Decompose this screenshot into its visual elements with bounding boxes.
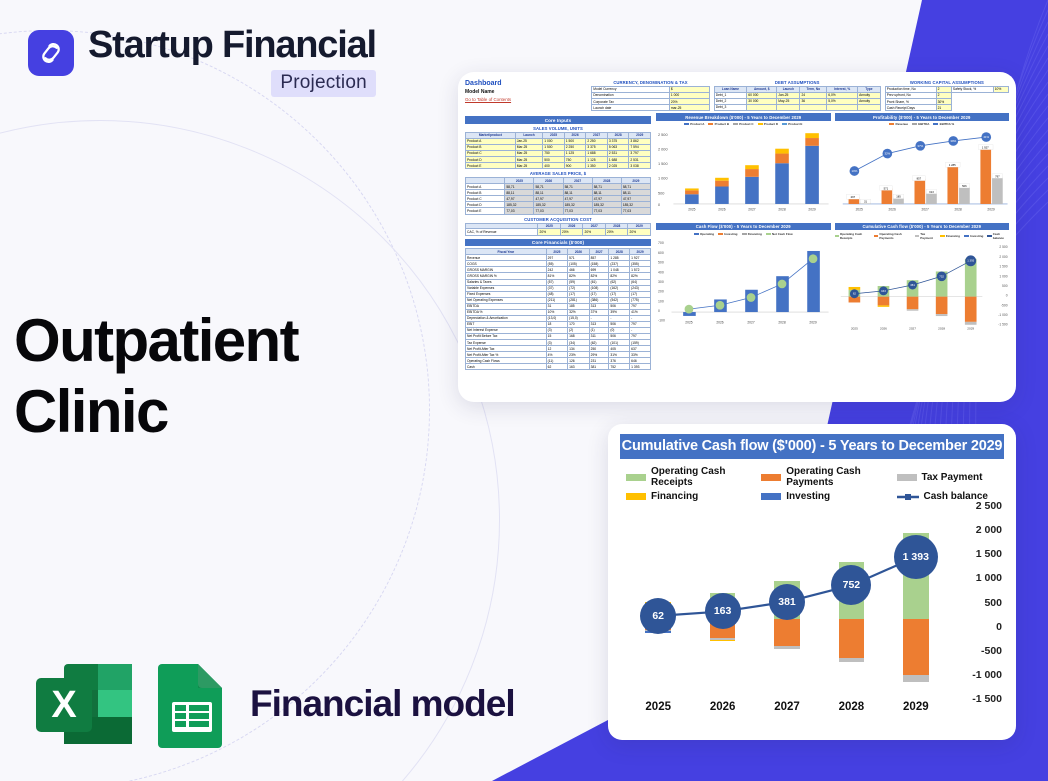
legend-swatch xyxy=(694,233,699,235)
legend-swatch xyxy=(964,235,969,237)
x-tick-label: 2028 xyxy=(819,701,883,713)
svg-text:571: 571 xyxy=(883,186,888,190)
y-tick-label: -1 000 xyxy=(950,669,1002,681)
svg-text:-500: -500 xyxy=(1000,304,1007,308)
legend-item: Tax Payment xyxy=(897,466,1003,488)
table-of-contents-link[interactable]: Go to Table of Contents xyxy=(465,97,591,102)
svg-text:297: 297 xyxy=(850,195,855,199)
svg-text:2025: 2025 xyxy=(685,321,692,325)
svg-text:1 393: 1 393 xyxy=(967,259,974,263)
svg-text:39%: 39% xyxy=(950,139,956,143)
core-financials-table: Fiscal Year20252026202720282029Revenue29… xyxy=(465,248,651,370)
svg-text:400: 400 xyxy=(658,271,664,275)
debt-block-title: DEBT ASSUMPTIONS xyxy=(714,80,881,85)
data-point-label: 163 xyxy=(705,593,741,629)
legend-item: Financing xyxy=(940,232,960,240)
chart-legend: OperatingInvestingFinancingNet Cash Flow xyxy=(656,230,831,237)
legend-item: Investing xyxy=(761,491,896,502)
svg-text:X: X xyxy=(51,684,77,726)
legend-item: EBITDA % xyxy=(933,122,954,126)
legend-swatch xyxy=(874,235,878,237)
cac-table: 20252026202720282029CAC, % of Revenue20%… xyxy=(465,223,651,236)
svg-text:2026: 2026 xyxy=(718,208,725,212)
table-cell: CAC, % of Revenue xyxy=(466,229,538,235)
chart-plot: 621633817521 393 2 5002 0001 5001 000500… xyxy=(620,508,1004,713)
legend-swatch xyxy=(915,235,919,237)
legend-label: Operating Cash Payments xyxy=(879,232,911,240)
sales-volume-table: Market/productLaunch20252026202720282029… xyxy=(465,132,651,169)
svg-text:797: 797 xyxy=(995,174,1000,178)
table-cell: 20% xyxy=(605,229,628,235)
chart-cumulative-cash-flow-mini[interactable]: Cumulative Cash flow ($'000) - 5 Years t… xyxy=(835,223,1010,337)
svg-text:2028: 2028 xyxy=(778,321,785,325)
table-cell: Product E xyxy=(466,208,505,214)
legend-item: Product C xyxy=(733,122,754,126)
debt-assumptions-block: DEBT ASSUMPTIONS Loan NameAmount, $Launc… xyxy=(714,80,881,111)
svg-text:2029: 2029 xyxy=(967,327,974,331)
legend-swatch xyxy=(718,233,723,235)
table-row: Product EMar-254009001 3502 0253 038 xyxy=(466,163,651,169)
x-tick-label: 2025 xyxy=(626,701,690,713)
table-cell: Safety Stock, % xyxy=(951,87,993,93)
table-cell: mar-25 xyxy=(669,105,709,111)
legend-swatch xyxy=(761,474,781,481)
svg-text:2025: 2025 xyxy=(688,208,695,212)
cumulative-cash-flow-mini-plot: 2 5002 0001 500 1 0005000 -500-1 000-1 5… xyxy=(835,241,1010,331)
avg-price-table: 20252026202720282029Product A58,7158,715… xyxy=(465,177,651,214)
svg-text:163: 163 xyxy=(881,289,886,293)
google-sheets-icon xyxy=(156,660,228,748)
svg-text:2026: 2026 xyxy=(880,327,887,331)
svg-text:-1 500: -1 500 xyxy=(998,323,1007,327)
svg-text:41%: 41% xyxy=(983,135,989,139)
legend-label: Revenue xyxy=(896,122,909,126)
y-tick-label: 2 000 xyxy=(950,524,1002,536)
legend-item: Cash balance xyxy=(987,232,1009,240)
core-inputs-band: Core Inputs xyxy=(465,116,651,124)
y-tick-label: -1 500 xyxy=(950,693,1002,705)
table-cell: 1 393 xyxy=(630,364,651,370)
svg-text:31: 31 xyxy=(864,199,868,203)
chart-title: Profitability ($'000) - 5 Years to Decem… xyxy=(835,113,1010,121)
legend-item: Operating xyxy=(694,232,714,236)
svg-text:0: 0 xyxy=(658,202,660,207)
table-cell: 77,03 xyxy=(592,208,621,214)
y-tick-label: -500 xyxy=(950,645,1002,657)
table-cell: Cash Receipt Days xyxy=(885,105,936,111)
svg-text:2028: 2028 xyxy=(778,208,785,212)
table-cell: 752 xyxy=(609,364,630,370)
svg-text:2026: 2026 xyxy=(716,321,723,325)
legend-item: Product D xyxy=(758,122,779,126)
legend-item: Net Cash Flow xyxy=(766,232,793,236)
logo-title: Startup Financial xyxy=(88,26,376,66)
e-loop-icon xyxy=(28,30,74,76)
svg-text:2 500: 2 500 xyxy=(658,132,668,137)
table-cell: Product E xyxy=(466,163,516,169)
legend-item: Revenue xyxy=(889,122,908,126)
table-cell: Cash xyxy=(466,364,547,370)
dashboard-title: Dashboard xyxy=(465,80,591,87)
table-cell: 20% xyxy=(560,229,583,235)
x-tick-label: 2027 xyxy=(755,701,819,713)
table-cell: 21 xyxy=(936,105,951,111)
chart-legend: RevenueEBITDAEBITDA % xyxy=(835,121,1010,128)
legend-swatch xyxy=(897,474,917,481)
svg-text:2025: 2025 xyxy=(855,208,862,212)
legend-label: Financing xyxy=(748,232,762,236)
svg-text:10%: 10% xyxy=(851,169,857,173)
table-row: Cash Receipt Days21 xyxy=(885,105,1008,111)
svg-text:2029: 2029 xyxy=(808,208,815,212)
legend-swatch xyxy=(782,123,787,125)
svg-text:2 000: 2 000 xyxy=(999,255,1007,259)
legend-swatch xyxy=(684,123,689,125)
currency-block-title: CURRENCY, DENOMINATION & TAX xyxy=(591,80,709,85)
logo-subtitle: Projection xyxy=(271,70,376,97)
svg-text:37%: 37% xyxy=(917,144,923,148)
svg-text:2027: 2027 xyxy=(747,321,754,325)
currency-assumptions-block: CURRENCY, DENOMINATION & TAX Model Curre… xyxy=(591,80,709,111)
legend-label: Product D xyxy=(764,122,778,126)
table-cell: 77,03 xyxy=(563,208,592,214)
legend-item: Tax Payment xyxy=(915,232,936,240)
svg-text:2029: 2029 xyxy=(987,208,994,212)
table-cell: Launch date xyxy=(592,105,670,111)
chart-legend: Operating Cash ReceiptsOperating Cash Pa… xyxy=(626,466,1002,502)
table-cell: 2 025 xyxy=(607,163,629,169)
table-cell: 900 xyxy=(564,163,586,169)
table-cell: 10% xyxy=(993,87,1008,93)
y-tick-label: 2 500 xyxy=(950,500,1002,512)
cash-flow-plot: 700600500 400300200 1000-100 xyxy=(656,237,831,327)
legend-label: Investing xyxy=(970,234,983,238)
legend-item: Financing xyxy=(742,232,762,236)
svg-text:2027: 2027 xyxy=(921,208,928,212)
currency-table: Model Currency$Denomination1 000Corporat… xyxy=(591,86,709,111)
x-axis: 20252026202720282029 xyxy=(626,689,948,713)
svg-text:1 927: 1 927 xyxy=(981,146,988,150)
legend-label: Financing xyxy=(651,491,698,502)
table-cell: 77,03 xyxy=(621,208,650,214)
legend-label: EBITDA % xyxy=(940,122,955,126)
chart-revenue-breakdown[interactable]: Revenue Breakdown ($'000) - 5 Years to D… xyxy=(656,113,831,219)
table-cell: Mar-25 xyxy=(515,163,542,169)
table-cell: 20% xyxy=(538,229,561,235)
brand-logo: Startup Financial Projection xyxy=(28,26,376,97)
legend-swatch xyxy=(835,235,839,237)
table-cell: 1 350 xyxy=(586,163,608,169)
legend-item: Operating Cash Payments xyxy=(874,232,911,240)
chart-legend: Operating Cash ReceiptsOperating Cash Pa… xyxy=(835,230,1010,241)
legend-label: Operating Cash Payments xyxy=(786,466,896,488)
table-cell: 20% xyxy=(628,229,651,235)
cac-title: CUSTOMER ACQUISITION COST xyxy=(465,217,651,222)
page-title: Outpatient Clinic xyxy=(14,306,434,448)
legend-label: Financing xyxy=(946,234,960,238)
legend-item: Operating Cash Receipts xyxy=(626,466,761,488)
table-cell: 77,03 xyxy=(534,208,563,214)
svg-text:600: 600 xyxy=(658,251,664,255)
table-row: Cash621633817521 393 xyxy=(466,364,651,370)
legend-label: Product A xyxy=(690,122,704,126)
chart-legend: Product AProduct BProduct CProduct DProd… xyxy=(656,121,831,128)
chart-title: Revenue Breakdown ($'000) - 5 Years to D… xyxy=(656,113,831,121)
legend-swatch xyxy=(761,493,781,500)
svg-text:-100: -100 xyxy=(658,319,665,323)
svg-text:1 500: 1 500 xyxy=(658,161,668,166)
table-cell: 3 038 xyxy=(629,163,651,169)
x-tick-label: 2029 xyxy=(884,701,948,713)
legend-label: Cash balance xyxy=(993,232,1009,240)
data-point-label: 1 393 xyxy=(894,535,938,579)
table-cell: 62 xyxy=(546,364,567,370)
footer-badges: X Financial model xyxy=(32,660,515,748)
legend-label: Tax Payment xyxy=(920,232,935,240)
table-row: Product E77,0377,0377,0377,0377,03 xyxy=(466,208,651,214)
y-tick-label: 500 xyxy=(950,597,1002,609)
table-cell xyxy=(858,105,881,111)
data-point-label: 381 xyxy=(769,584,805,620)
svg-text:381: 381 xyxy=(910,283,915,287)
svg-text:313: 313 xyxy=(929,190,934,194)
page-title-line2: Clinic xyxy=(14,377,434,448)
table-cell: Debt_3 xyxy=(714,105,747,111)
legend-swatch xyxy=(940,235,945,237)
y-axis: 2 5002 0001 5001 0005000-500-1 000-1 500 xyxy=(950,500,1002,693)
svg-text:0: 0 xyxy=(1005,294,1007,298)
svg-text:500: 500 xyxy=(658,261,664,265)
svg-text:700: 700 xyxy=(658,242,664,246)
y-tick-label: 0 xyxy=(950,621,1002,633)
chart-cash-flow[interactable]: Cash Flow ($'000) - 5 Years to December … xyxy=(656,223,831,337)
legend-item: Financing xyxy=(626,491,761,502)
legend-swatch xyxy=(889,123,894,125)
svg-text:200: 200 xyxy=(658,290,664,294)
legend-item: Investing xyxy=(718,232,737,236)
sales-volume-title: SALES VOLUME, UNITS xyxy=(465,126,651,131)
legend-item: Product A xyxy=(684,122,704,126)
cumulative-cash-flow-card[interactable]: Cumulative Cash flow ($'000) - 5 Years t… xyxy=(608,424,1016,740)
legend-item: Operating Cash Payments xyxy=(761,466,896,488)
legend-item: Product B xyxy=(708,122,729,126)
svg-text:752: 752 xyxy=(939,275,944,279)
svg-text:2 000: 2 000 xyxy=(658,146,668,151)
table-row: Debt_3 xyxy=(714,105,880,111)
legend-swatch xyxy=(708,123,713,125)
svg-text:2027: 2027 xyxy=(748,208,755,212)
avg-price-title: AVERAGE SALES PRICE, $ xyxy=(465,171,651,176)
table-cell: 77,03 xyxy=(505,208,534,214)
chart-title: Cash Flow ($'000) - 5 Years to December … xyxy=(656,223,831,231)
legend-swatch xyxy=(626,474,646,481)
working-capital-table: Production time, No2Safety Stock, %10%Pr… xyxy=(885,86,1009,111)
legend-label: Operating Cash Receipts xyxy=(651,466,761,488)
legend-label: Tax Payment xyxy=(922,472,983,483)
page-title-line1: Outpatient xyxy=(14,306,434,377)
revenue-breakdown-plot: 2 5002 0001 500 1 0005000 202520 xyxy=(656,128,831,214)
svg-text:62: 62 xyxy=(852,292,856,296)
legend-swatch xyxy=(758,123,763,125)
legend-label: Operating Cash Receipts xyxy=(840,232,870,240)
chart-title: Cumulative Cash flow ($'000) - 5 Years t… xyxy=(835,223,1010,231)
wc-block-title: WORKING CAPITAL ASSUMPTIONS xyxy=(885,80,1009,85)
legend-item: Product E xyxy=(782,122,802,126)
svg-text:185: 185 xyxy=(896,195,901,199)
legend-label: EBITDA xyxy=(918,122,929,126)
legend-label: Product E xyxy=(788,122,802,126)
table-cell xyxy=(827,105,858,111)
legend-item: EBITDA xyxy=(912,122,929,126)
y-tick-label: 1 000 xyxy=(950,572,1002,584)
table-row: CAC, % of Revenue20%20%20%20%20% xyxy=(466,229,651,235)
chart-title: Cumulative Cash flow ($'000) - 5 Years t… xyxy=(620,434,1004,459)
table-cell: 163 xyxy=(568,364,589,370)
dashboard-heading-block: Dashboard Model Name Go to Table of Cont… xyxy=(465,80,591,111)
svg-text:2027: 2027 xyxy=(909,327,916,331)
core-financials-band: Core Financials ($'000) xyxy=(465,239,651,247)
svg-text:857: 857 xyxy=(916,177,921,181)
legend-swatch xyxy=(733,123,738,125)
svg-text:100: 100 xyxy=(658,300,664,304)
legend-swatch xyxy=(987,235,991,237)
dashboard-preview-card[interactable]: Dashboard Model Name Go to Table of Cont… xyxy=(458,72,1016,402)
table-cell xyxy=(800,105,827,111)
core-inputs-column: Core Inputs SALES VOLUME, UNITS Market/p… xyxy=(465,113,651,370)
svg-text:506: 506 xyxy=(962,184,967,188)
legend-line-swatch xyxy=(897,493,919,500)
legend-swatch xyxy=(626,493,646,500)
table-row: Launch datemar-25 xyxy=(592,105,709,111)
legend-item: Operating Cash Receipts xyxy=(835,232,870,240)
microsoft-excel-icon: X xyxy=(32,660,136,748)
dashboard-model-name: Model Name xyxy=(465,89,591,95)
svg-text:32%: 32% xyxy=(884,152,890,156)
svg-text:2028: 2028 xyxy=(954,208,961,212)
legend-label: Operating xyxy=(700,232,714,236)
svg-text:300: 300 xyxy=(658,280,664,284)
svg-text:2 500: 2 500 xyxy=(999,246,1007,250)
table-cell: 20% xyxy=(583,229,606,235)
data-point-label: 62 xyxy=(640,598,676,634)
y-tick-label: 1 500 xyxy=(950,548,1002,560)
working-capital-block: WORKING CAPITAL ASSUMPTIONS Production t… xyxy=(885,80,1009,111)
legend-item: Investing xyxy=(964,232,983,240)
svg-text:2025: 2025 xyxy=(850,327,857,331)
table-cell xyxy=(777,105,800,111)
profitability-plot: 297 571 857 1 285 1 927 31 185 313 506 7… xyxy=(835,128,1010,214)
debt-table: Loan NameAmount, $LaunchTerm, NoInterest… xyxy=(714,86,881,111)
table-cell: 400 xyxy=(543,163,565,169)
svg-text:500: 500 xyxy=(658,190,664,195)
legend-label: Investing xyxy=(724,232,737,236)
legend-swatch xyxy=(933,123,938,125)
legend-label: Product B xyxy=(715,122,729,126)
svg-text:1 000: 1 000 xyxy=(999,275,1007,279)
svg-text:-1 000: -1 000 xyxy=(998,313,1007,317)
svg-text:500: 500 xyxy=(1002,284,1008,288)
legend-swatch xyxy=(766,233,771,235)
svg-text:2026: 2026 xyxy=(888,208,895,212)
svg-text:1 285: 1 285 xyxy=(948,163,955,167)
legend-swatch xyxy=(912,123,917,125)
legend-label: Product C xyxy=(739,122,753,126)
dashboard-charts-grid: Revenue Breakdown ($'000) - 5 Years to D… xyxy=(656,113,1009,370)
svg-text:1 000: 1 000 xyxy=(658,176,668,181)
chart-profitability[interactable]: Profitability ($'000) - 5 Years to Decem… xyxy=(835,113,1010,219)
svg-text:0: 0 xyxy=(658,309,660,313)
svg-text:2028: 2028 xyxy=(938,327,945,331)
svg-text:1 500: 1 500 xyxy=(999,265,1007,269)
legend-label: Net Cash Flow xyxy=(772,232,793,236)
table-cell: 381 xyxy=(589,364,609,370)
x-tick-label: 2026 xyxy=(690,701,754,713)
table-cell xyxy=(747,105,777,111)
plot-area: 621633817521 393 xyxy=(626,508,948,685)
footer-label: Financial model xyxy=(250,683,515,725)
legend-swatch xyxy=(742,233,747,235)
legend-label: Investing xyxy=(786,491,830,502)
svg-text:2029: 2029 xyxy=(809,321,816,325)
